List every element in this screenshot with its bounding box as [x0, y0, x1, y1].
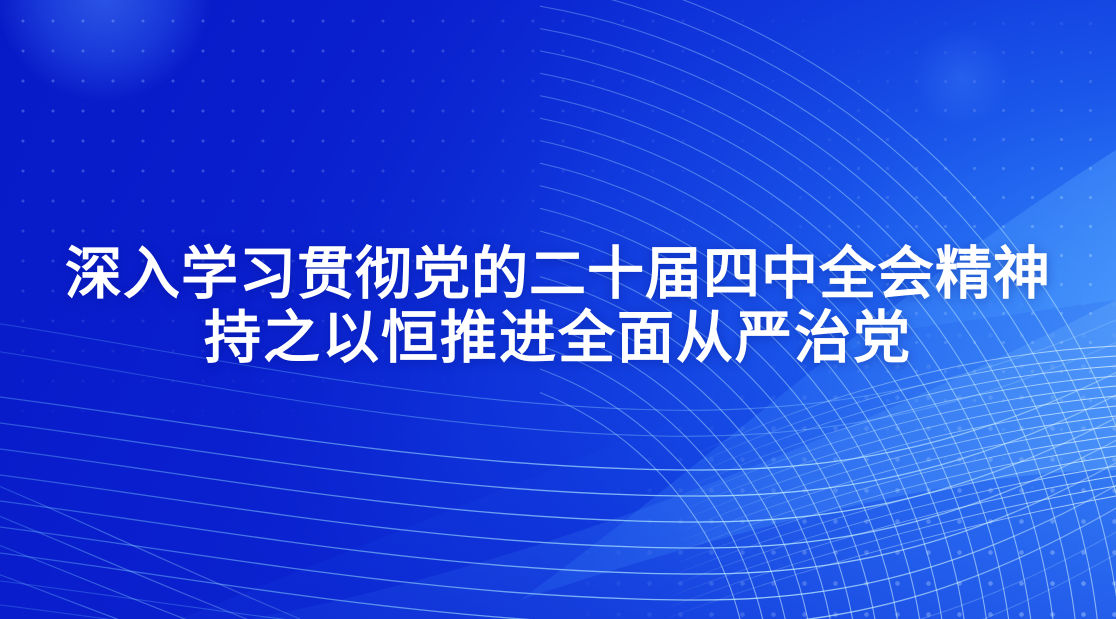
- banner-canvas: 深入学习贯彻党的二十届四中全会精神 持之以恒推进全面从严治党: [0, 0, 1116, 619]
- banner-title: 深入学习贯彻党的二十届四中全会精神 持之以恒推进全面从严治党: [0, 243, 1116, 371]
- title-line-2: 持之以恒推进全面从严治党: [0, 307, 1116, 371]
- title-line-1: 深入学习贯彻党的二十届四中全会精神: [0, 243, 1116, 307]
